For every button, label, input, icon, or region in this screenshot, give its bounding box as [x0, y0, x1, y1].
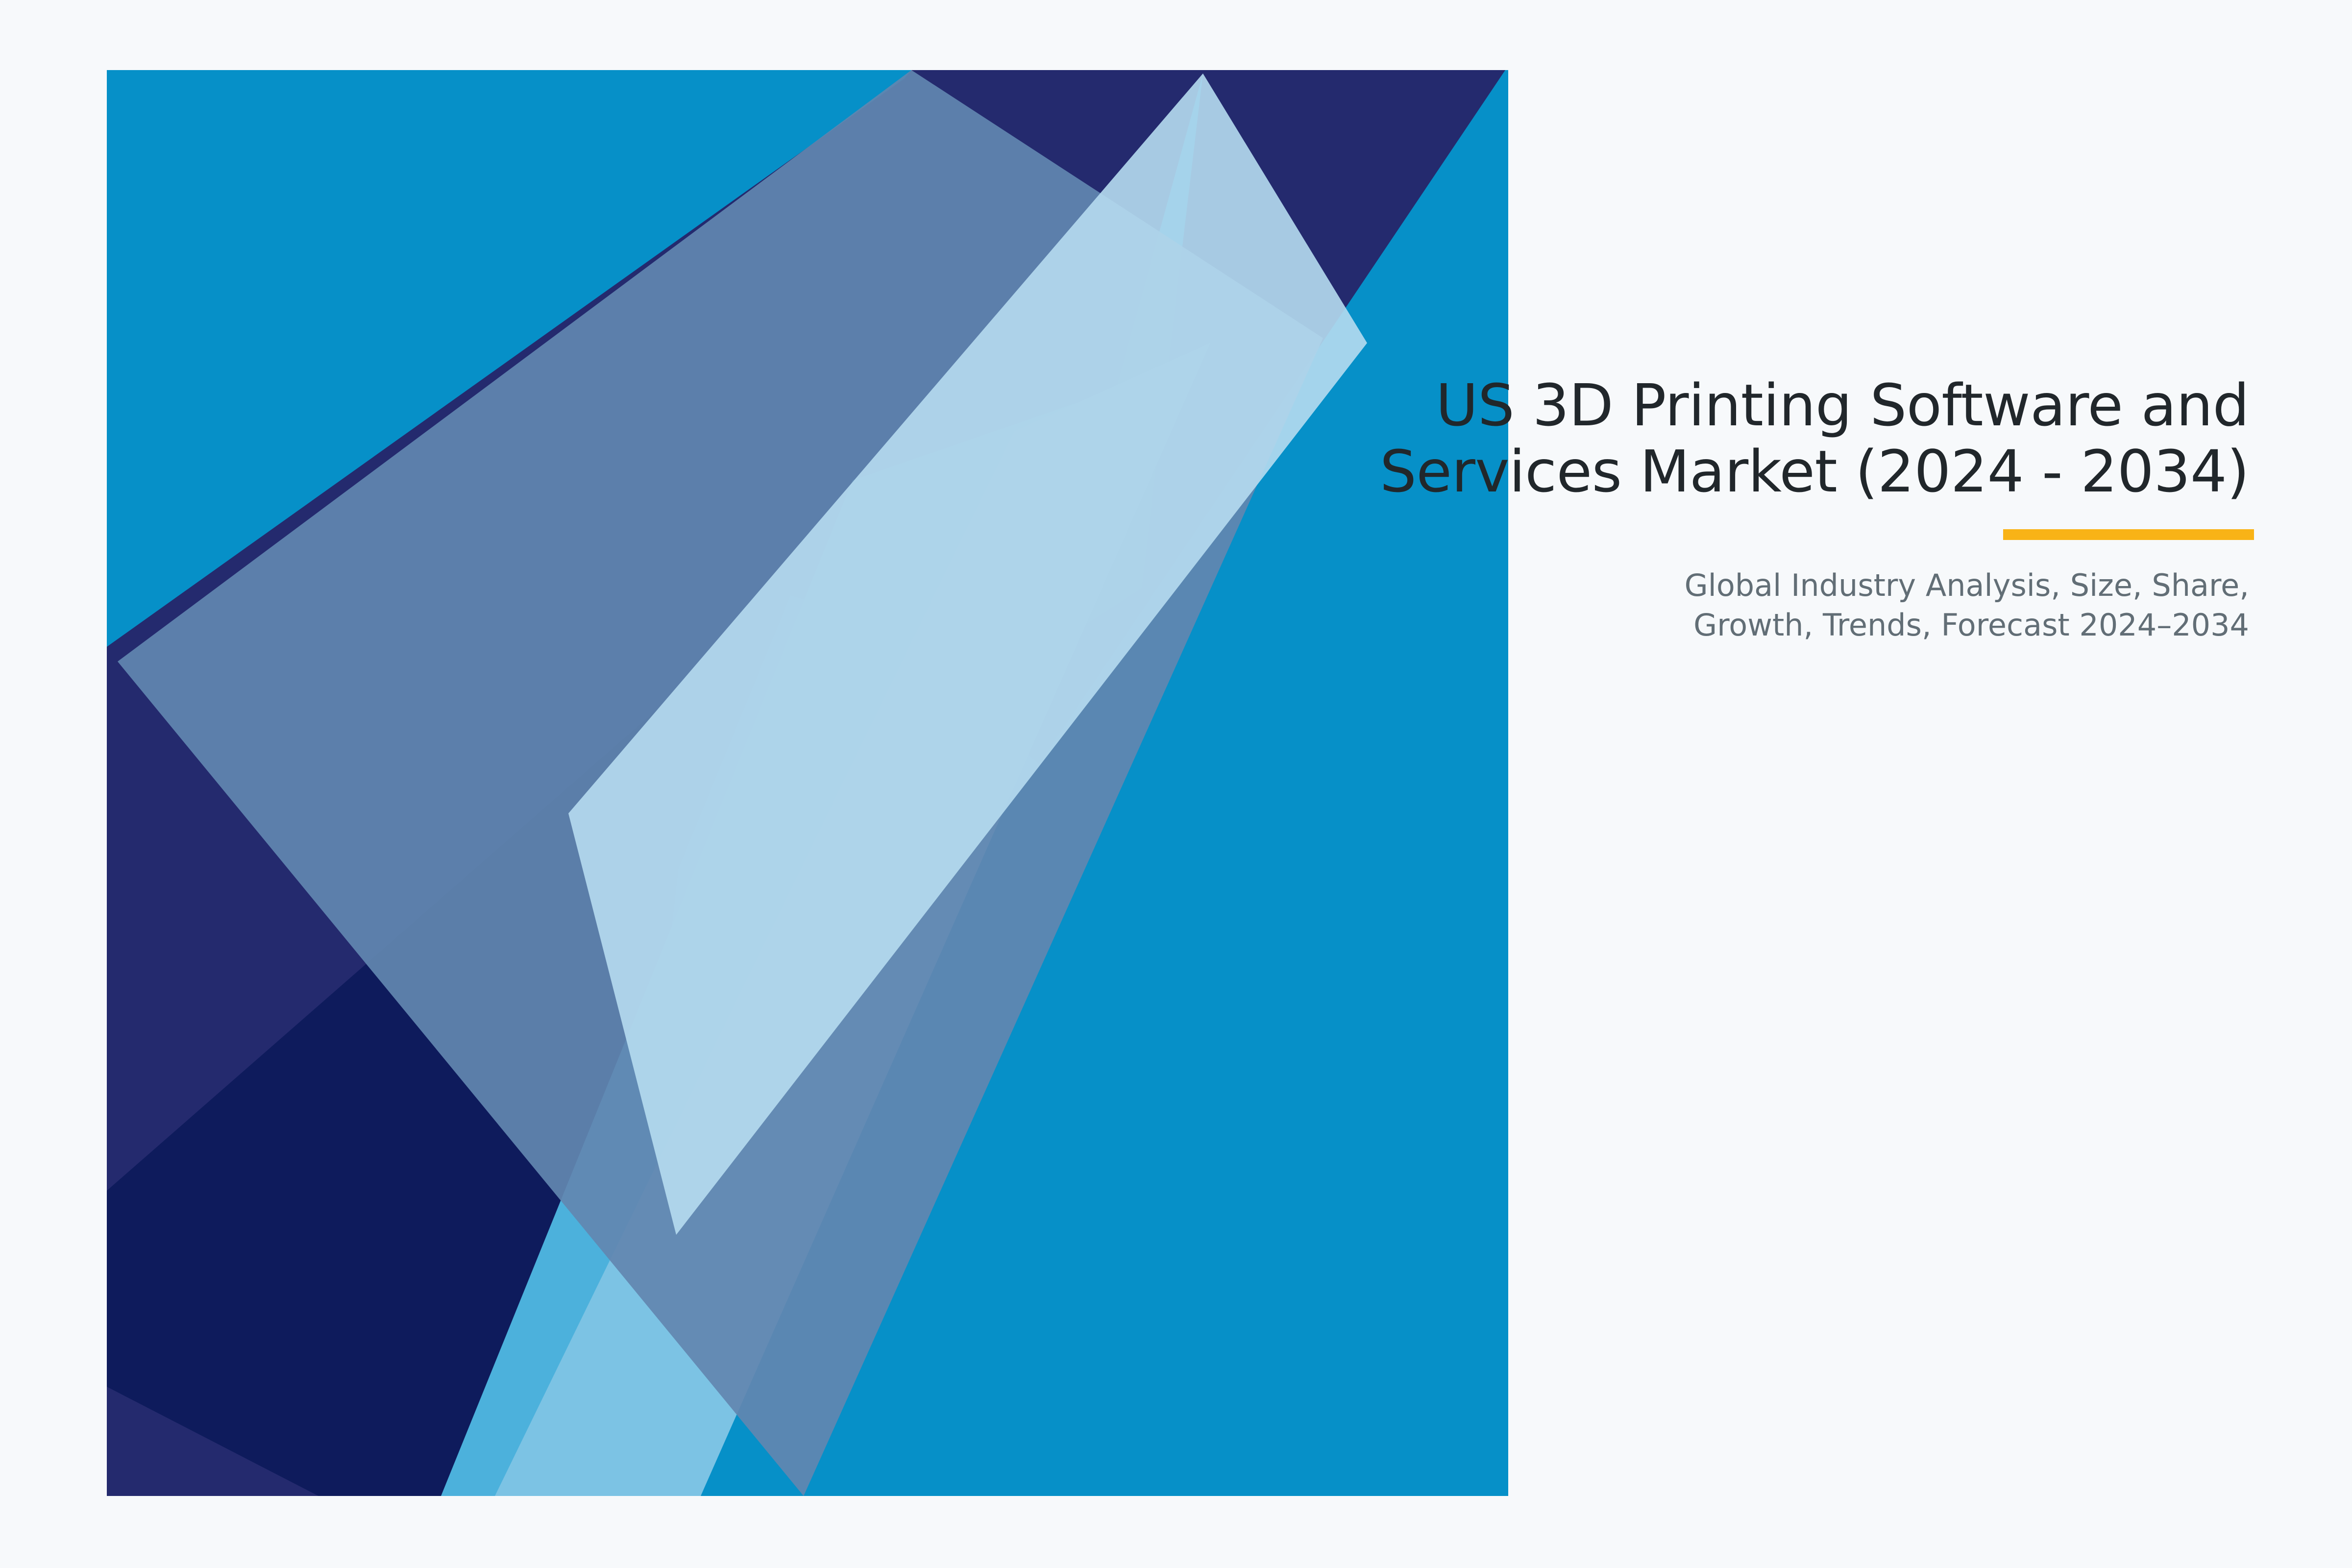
navy-left-wedge — [107, 70, 916, 1496]
pale-blue-overlay — [568, 73, 1367, 1235]
page-subtitle: Global Industry Analysis, Size, Share, G… — [1093, 504, 2249, 645]
deep-navy-lower-blade — [107, 671, 701, 1496]
page-title: US 3D Printing Software and Services Mar… — [1093, 372, 2249, 504]
slate-blue-overlay — [118, 70, 1323, 1496]
abstract-geometric-artwork — [0, 0, 2352, 1568]
cover-text-block: US 3D Printing Software and Services Mar… — [1093, 372, 2249, 645]
cyan-base-panel — [107, 70, 1508, 1496]
sky-blue-diagonal-band — [441, 382, 1137, 1496]
report-cover-page: US 3D Printing Software and Services Mar… — [0, 0, 2352, 1568]
